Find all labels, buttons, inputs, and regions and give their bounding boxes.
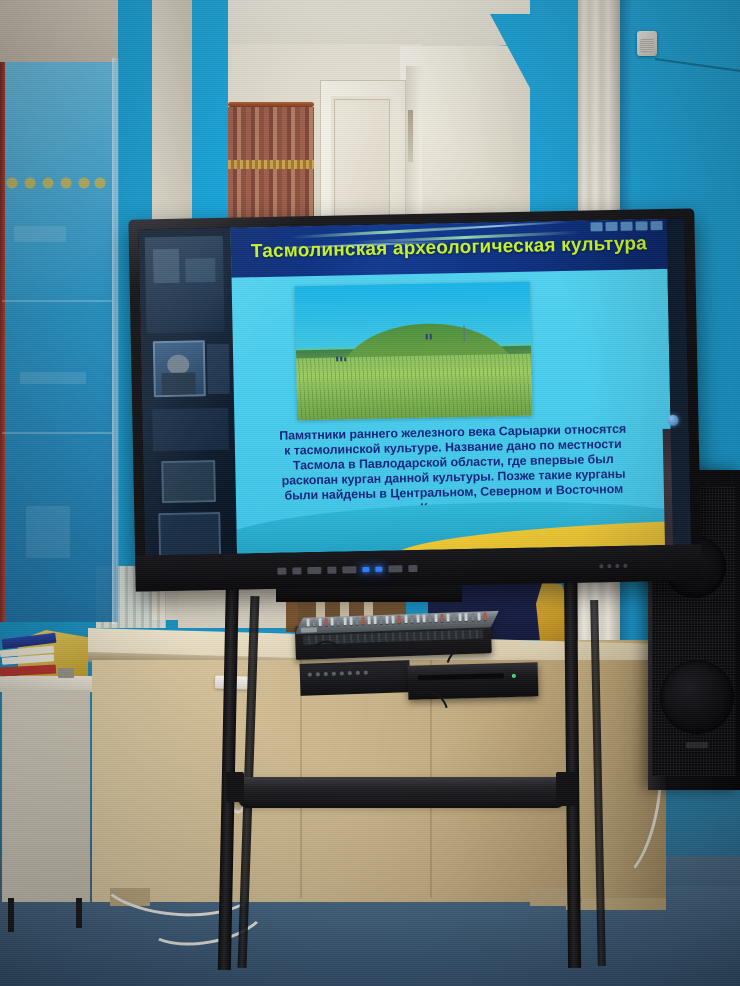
brand-dot (623, 564, 627, 568)
door-panel (331, 96, 393, 224)
mixer-knob[interactable] (367, 616, 370, 624)
desk-foot (530, 888, 570, 906)
mixer-knob[interactable] (465, 613, 468, 621)
header-block (605, 222, 617, 231)
header-blocks (590, 221, 662, 231)
tv-mount-arm (276, 586, 462, 602)
mixer-knob[interactable] (349, 617, 352, 625)
cabinet-gold-ornament (0, 168, 112, 198)
display-cabinet-top (0, 0, 118, 62)
cabinet-shelf (2, 432, 112, 434)
mixer-knob[interactable] (398, 615, 401, 623)
cabinet-leg (76, 898, 82, 928)
curtain-fringe (228, 160, 314, 169)
brand-dot (599, 564, 603, 568)
mixer-knob[interactable] (337, 617, 340, 625)
mixer-knob[interactable] (422, 614, 425, 622)
mixer-knob[interactable] (416, 615, 419, 623)
photo-figure (336, 357, 338, 362)
mixer-knob[interactable] (428, 614, 431, 622)
mixer-knob[interactable] (483, 612, 486, 620)
power-led-icon (362, 567, 369, 572)
display-cabinet-edge (112, 58, 119, 624)
door (320, 80, 406, 232)
status-led-icon (375, 567, 382, 572)
mixer-knob[interactable] (313, 618, 316, 626)
photo-figure (430, 334, 432, 340)
brand-dot (615, 564, 619, 568)
shelf-bracket (556, 772, 578, 806)
serial-port-icon[interactable] (342, 566, 356, 573)
book-box (58, 668, 74, 678)
reflection-patch (152, 408, 229, 452)
reflection-patch (185, 258, 215, 283)
shelf-bracket (226, 772, 244, 802)
vga-port-icon[interactable] (307, 567, 321, 574)
television[interactable]: Тасмолинская археологическая культура Па (128, 208, 701, 591)
cabinet-shelf (2, 300, 112, 302)
display-cabinet-frame (0, 62, 5, 622)
cabinet-leg (8, 898, 14, 932)
curtain-fabric (228, 107, 314, 232)
control-button-icon[interactable] (408, 565, 417, 572)
mixer-knob[interactable] (447, 614, 450, 622)
cart-shelf-lip (238, 798, 566, 808)
mixer-knob[interactable] (373, 616, 376, 624)
header-block (620, 222, 632, 231)
mixer-knob[interactable] (380, 616, 383, 624)
cabinet-reflection (161, 460, 216, 503)
speaker-badge (686, 742, 708, 748)
control-button-icon[interactable] (388, 565, 402, 572)
mixer-knob[interactable] (459, 613, 462, 621)
mixer-knob[interactable] (386, 616, 389, 624)
left-cabinet (2, 690, 90, 902)
mixer-knob[interactable] (343, 617, 346, 625)
header-block (590, 222, 602, 231)
mixer-knob[interactable] (434, 614, 437, 622)
cabinet-reflection (20, 372, 86, 384)
tv-brand-label (599, 564, 627, 569)
tv-screen[interactable]: Тасмолинская археологическая культура Па (139, 219, 691, 556)
speaker-driver (660, 660, 734, 734)
curtain (228, 100, 314, 232)
mixer-knob[interactable] (471, 613, 474, 621)
mixer-knob[interactable] (453, 613, 456, 621)
slide-photo-kurgan (295, 282, 533, 421)
mixer-knob[interactable] (477, 613, 480, 621)
door-reflection (158, 512, 221, 556)
power-led-icon (512, 674, 516, 678)
mixer-knob[interactable] (319, 618, 322, 626)
audio-port-icon[interactable] (327, 567, 336, 574)
reflection-patch (207, 344, 230, 394)
photo-figure (344, 357, 346, 361)
cabinet-reflection (14, 226, 66, 242)
brand-dot (607, 564, 611, 568)
photo-grass-texture (296, 354, 532, 420)
header-block (635, 221, 647, 230)
mixer-knob[interactable] (410, 615, 413, 623)
mixer-knob[interactable] (440, 614, 443, 622)
hdmi-port-icon[interactable] (292, 567, 301, 574)
mixer-knob[interactable] (404, 615, 407, 623)
alcove-corner (490, 14, 530, 144)
usb-port-icon[interactable] (277, 568, 286, 575)
mixer-knob[interactable] (361, 617, 364, 625)
mixer-knob[interactable] (355, 617, 358, 625)
mixer-knob[interactable] (331, 618, 334, 626)
mixer-knob[interactable] (325, 618, 328, 626)
presentation-slide: Тасмолинская археологическая культура Па (231, 219, 673, 554)
screen-reflection-band (139, 228, 238, 556)
door-hinge (408, 110, 413, 162)
tv-port-row[interactable] (277, 565, 417, 575)
header-block (650, 221, 662, 230)
reflection-patch (153, 249, 180, 284)
portrait-body (161, 372, 195, 395)
mixer-knob[interactable] (306, 619, 309, 627)
mixer-knob[interactable] (392, 616, 395, 624)
photo-figure (426, 334, 428, 340)
photo-scene: Тасмолинская археологическая культура Па (0, 0, 740, 986)
cabinet-reflection (26, 506, 70, 558)
photo-figure (340, 356, 342, 361)
mixer-logo (301, 627, 317, 633)
motion-sensor-icon (637, 31, 657, 56)
